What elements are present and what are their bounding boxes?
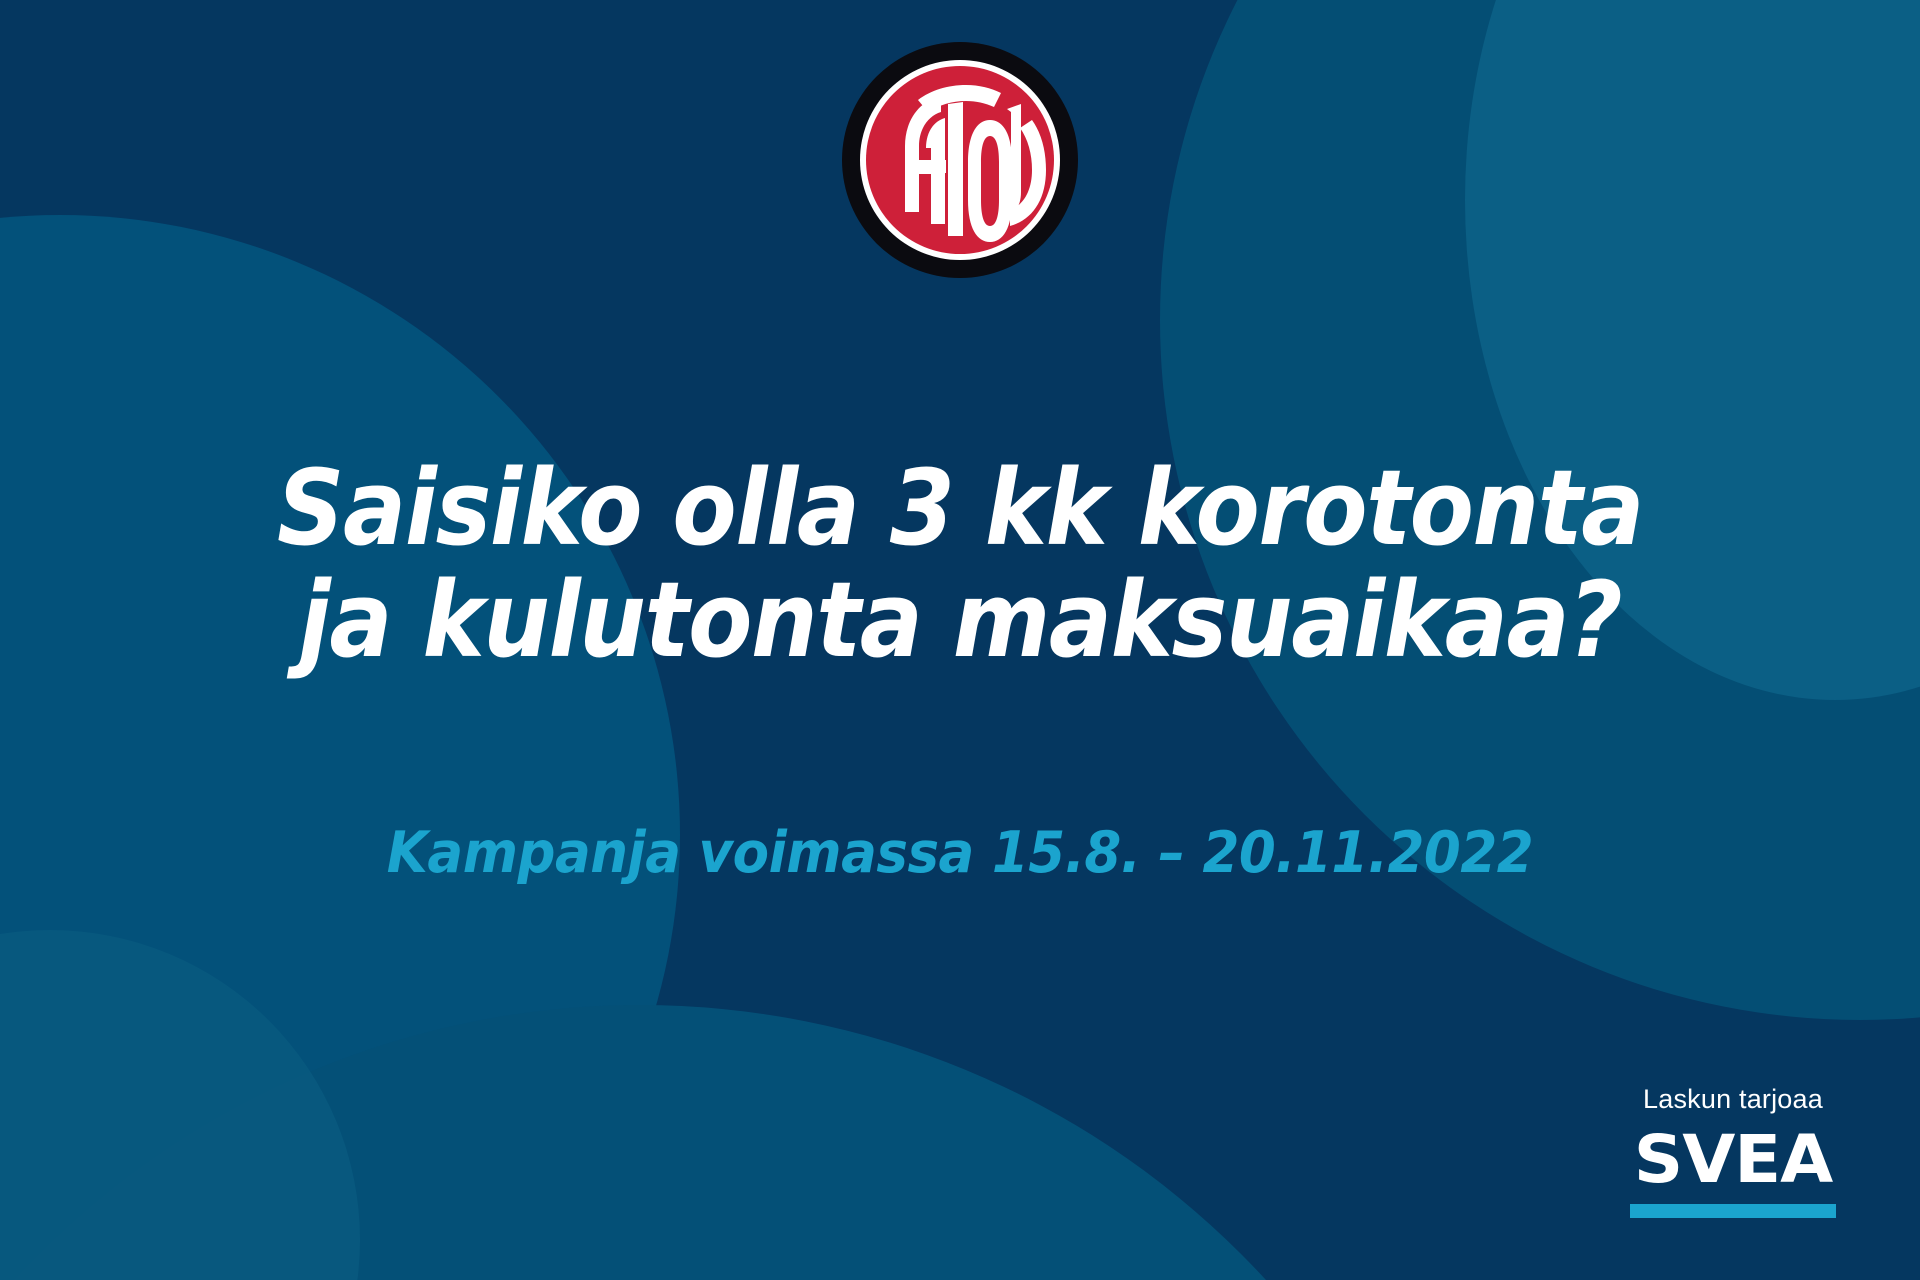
headline-line-1: Saisiko olla 3 kk korotonta	[96, 452, 1824, 564]
background-circle-bottom	[0, 1005, 1490, 1280]
svea-wordmark: SVEA	[1613, 1127, 1852, 1193]
headline-line-2: ja kulutonta maksuaikaa?	[96, 564, 1824, 676]
sponsor-lockup: Laskun tarjoaa SVEA	[1618, 1083, 1848, 1218]
campaign-banner: Saisiko olla 3 kk korotonta ja kulutonta…	[0, 0, 1920, 1280]
campaign-period-text: Kampanja voimassa 15.8. – 20.11.2022	[67, 818, 1853, 888]
page-title: Saisiko olla 3 kk korotonta ja kulutonta…	[0, 452, 1920, 676]
background-circle-left	[0, 215, 680, 1280]
atou-logo	[842, 42, 1078, 278]
background-circle-bottom-left	[0, 930, 360, 1280]
sponsor-kicker: Laskun tarjoaa	[1618, 1083, 1848, 1115]
svea-underline-bar	[1630, 1204, 1836, 1218]
